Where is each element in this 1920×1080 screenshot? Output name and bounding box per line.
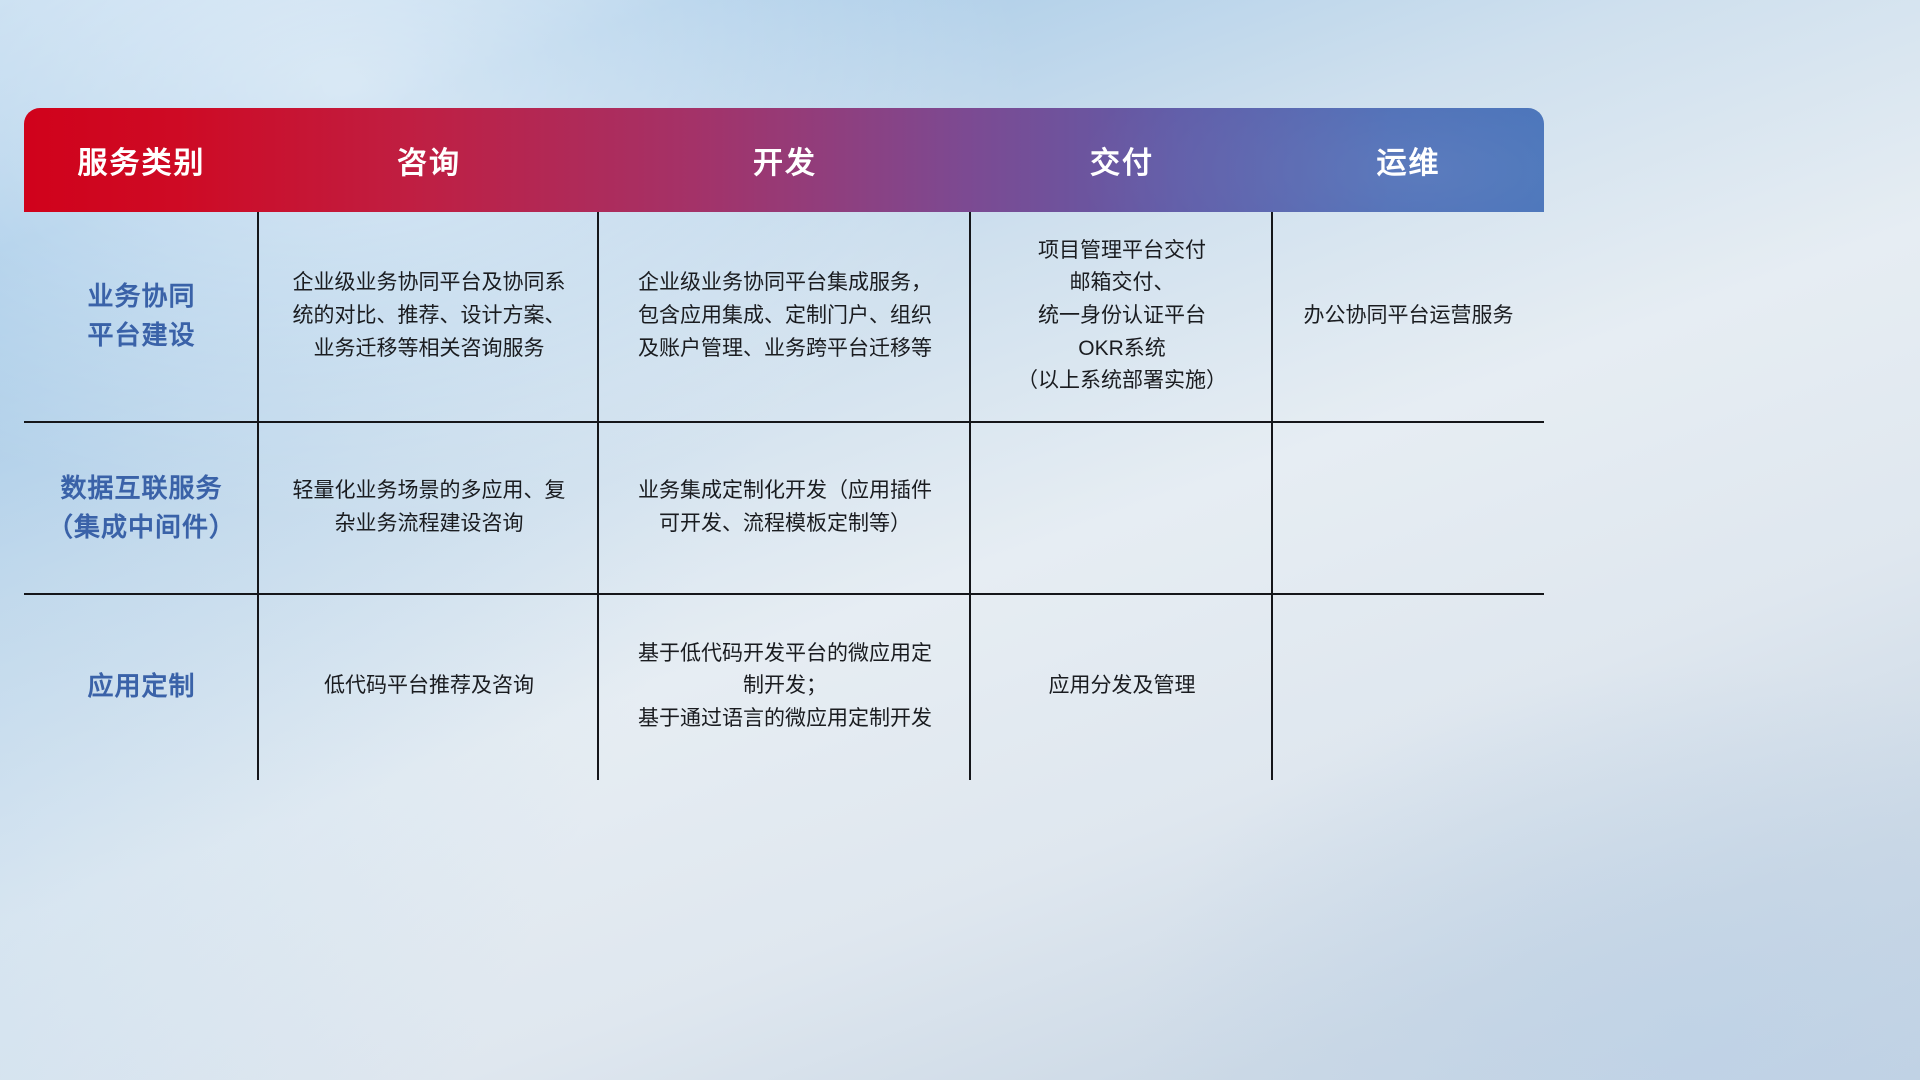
table-header-row: 服务类别 咨询 开发 交付 运维 [24,108,1544,212]
cell-delivery: 项目管理平台交付 邮箱交付、 统一身份认证平台 OKR系统 （以上系统部署实施） [971,212,1273,421]
row-category-label: 数据互联服务 （集成中间件） [24,423,259,594]
cell-delivery [971,423,1273,594]
table-row: 数据互联服务 （集成中间件） 轻量化业务场景的多应用、复 杂业务流程建设咨询 业… [24,423,1544,596]
column-header-delivery: 交付 [971,108,1273,212]
cell-operations [1273,423,1544,594]
cell-operations [1273,595,1544,778]
column-header-development: 开发 [599,108,971,212]
cell-development: 基于低代码开发平台的微应用定 制开发； 基于通过语言的微应用定制开发 [599,595,971,778]
cell-consulting: 轻量化业务场景的多应用、复 杂业务流程建设咨询 [259,423,599,594]
cell-development: 企业级业务协同平台集成服务， 包含应用集成、定制门户、组织 及账户管理、业务跨平… [599,212,971,421]
column-header-category: 服务类别 [24,108,259,212]
table-row: 业务协同 平台建设 企业级业务协同平台及协同系 统的对比、推荐、设计方案、 业务… [24,212,1544,423]
cell-development: 业务集成定制化开发（应用插件 可开发、流程模板定制等） [599,423,971,594]
cell-consulting: 企业级业务协同平台及协同系 统的对比、推荐、设计方案、 业务迁移等相关咨询服务 [259,212,599,421]
cell-delivery: 应用分发及管理 [971,595,1273,778]
row-category-label: 应用定制 [24,595,259,778]
column-header-operations: 运维 [1273,108,1544,212]
table-row: 应用定制 低代码平台推荐及咨询 基于低代码开发平台的微应用定 制开发； 基于通过… [24,595,1544,778]
cell-operations: 办公协同平台运营服务 [1273,212,1544,421]
table-body: 业务协同 平台建设 企业级业务协同平台及协同系 统的对比、推荐、设计方案、 业务… [24,212,1544,778]
cell-consulting: 低代码平台推荐及咨询 [259,595,599,778]
column-header-consulting: 咨询 [259,108,599,212]
service-category-table: 服务类别 咨询 开发 交付 运维 业务协同 平台建设 企业级业务协同平台及协同系… [24,108,1544,778]
row-category-label: 业务协同 平台建设 [24,212,259,421]
